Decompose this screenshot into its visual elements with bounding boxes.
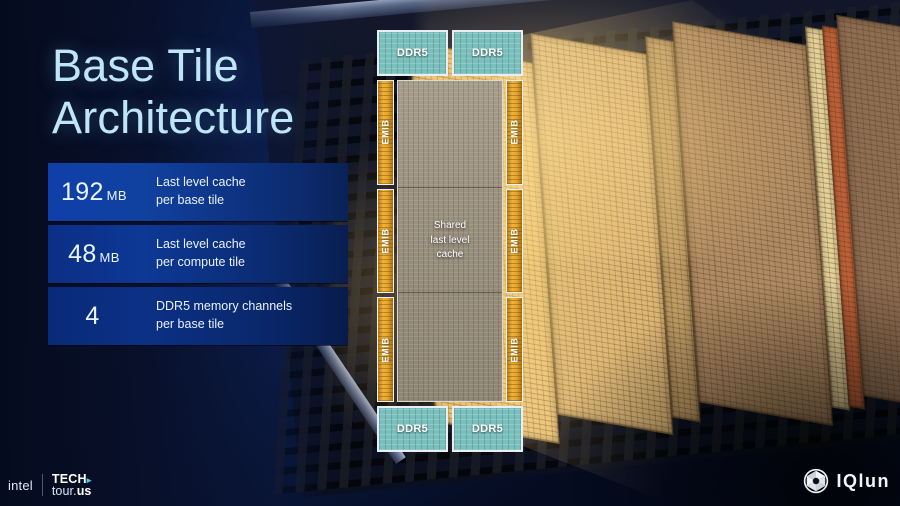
- stat-description-line-2: per base tile: [156, 316, 292, 334]
- emib-block: EMIB: [506, 80, 523, 185]
- shared-last-level-cache: Shared last level cache: [397, 80, 503, 402]
- aperture-icon: [803, 468, 829, 494]
- emib-label: EMIB: [510, 337, 520, 362]
- stat-row: 48MB Last level cache per compute tile: [48, 225, 348, 283]
- page-title: Base Tile Architecture: [52, 40, 295, 144]
- stat-description-line-1: DDR5 memory channels: [156, 298, 292, 316]
- stats-list: 192MB Last level cache per base tile 48M…: [48, 163, 348, 349]
- stat-number: 4: [85, 302, 99, 330]
- intel-tech-tour-logo: intel TECH▸ tour.us: [8, 473, 91, 499]
- emib-label: EMIB: [381, 337, 391, 362]
- stat-value: 4: [48, 302, 140, 331]
- stat-description-line-1: Last level cache: [156, 174, 246, 192]
- emib-column-right: EMIB EMIB EMIB: [506, 80, 523, 402]
- intel-wordmark: intel: [8, 478, 33, 493]
- ddr5-block: DDR5: [452, 406, 523, 452]
- emib-label: EMIB: [510, 120, 520, 145]
- ddr5-row-top: DDR5 DDR5: [377, 30, 523, 76]
- emib-block: EMIB: [377, 80, 394, 185]
- tech-tour-wordmark: TECH▸ tour.us: [52, 473, 92, 499]
- logo-divider: [42, 474, 43, 496]
- slide-root: Base Tile Architecture 192MB Last level …: [0, 0, 900, 506]
- partner-logo: IQlun: [803, 468, 891, 494]
- stat-description-line-2: per base tile: [156, 192, 246, 210]
- emib-block: EMIB: [377, 297, 394, 402]
- cache-label-line-1: Shared: [431, 219, 470, 234]
- title-line-1: Base Tile: [52, 40, 295, 92]
- partner-logo-text: IQlun: [837, 471, 891, 492]
- stat-row: 4 DDR5 memory channels per base tile: [48, 287, 348, 345]
- emib-block: EMIB: [506, 189, 523, 294]
- emib-label: EMIB: [510, 229, 520, 254]
- tour-region-text: us: [77, 484, 92, 498]
- die-core: EMIB EMIB EMIB Shared last level cache E…: [377, 80, 523, 402]
- ddr5-row-bottom: DDR5 DDR5: [377, 406, 523, 452]
- tour-text: tour.: [52, 484, 77, 498]
- emib-label: EMIB: [381, 229, 391, 254]
- stat-row: 192MB Last level cache per base tile: [48, 163, 348, 221]
- stat-description-line-2: per compute tile: [156, 254, 246, 272]
- stat-description: DDR5 memory channels per base tile: [140, 298, 292, 334]
- emib-column-left: EMIB EMIB EMIB: [377, 80, 394, 402]
- accent-arrow-icon: ▸: [87, 475, 92, 485]
- stat-description: Last level cache per compute tile: [140, 236, 246, 272]
- stat-number: 192: [61, 178, 104, 206]
- base-tile-diagram: DDR5 DDR5 EMIB EMIB EMIB Shared last lev…: [377, 30, 523, 450]
- emib-label: EMIB: [381, 120, 391, 145]
- title-line-2: Architecture: [52, 92, 295, 144]
- stat-description: Last level cache per base tile: [140, 174, 246, 210]
- emib-block: EMIB: [506, 297, 523, 402]
- ddr5-block: DDR5: [377, 30, 448, 76]
- cache-label-line-2: last level: [431, 234, 470, 249]
- cache-label: Shared last level cache: [431, 219, 470, 263]
- emib-block: EMIB: [377, 189, 394, 294]
- ddr5-block: DDR5: [452, 30, 523, 76]
- stat-value: 192MB: [48, 178, 140, 207]
- ddr5-block: DDR5: [377, 406, 448, 452]
- stat-number: 48: [68, 240, 96, 268]
- cache-label-line-3: cache: [431, 248, 470, 263]
- stat-value: 48MB: [48, 240, 140, 269]
- stat-description-line-1: Last level cache: [156, 236, 246, 254]
- stat-unit: MB: [107, 188, 127, 203]
- tech-tour-line-2: tour.us: [52, 485, 92, 498]
- stat-unit: MB: [100, 250, 120, 265]
